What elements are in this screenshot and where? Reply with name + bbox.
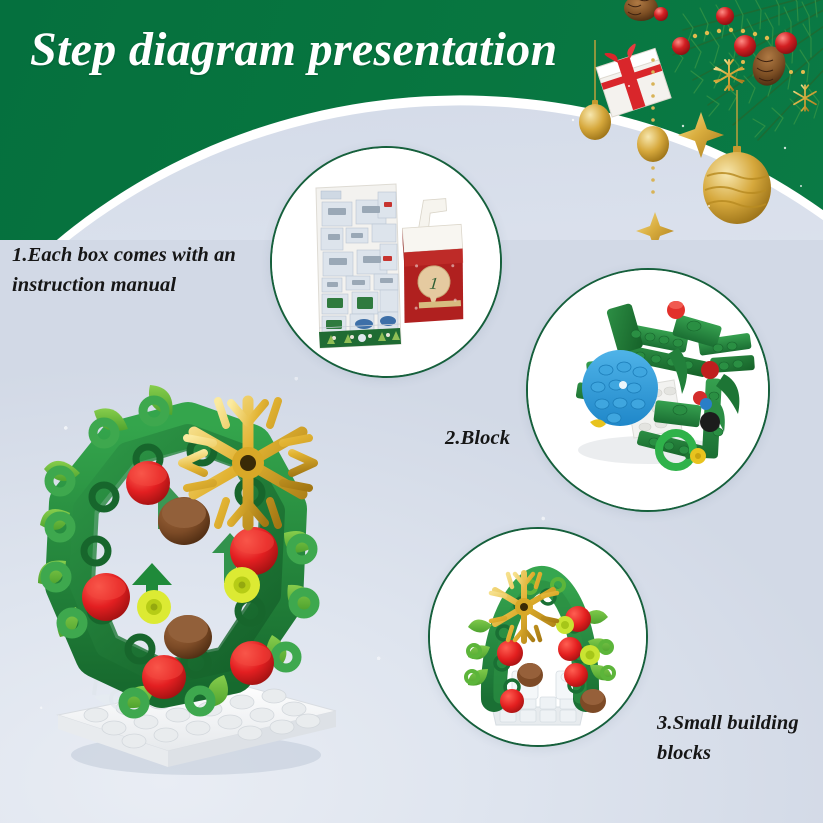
step-1-photo-circle[interactable]: 1 [270, 146, 502, 378]
step-2-caption: 2.Block [445, 423, 510, 453]
step-1-caption-line1: 1.Each box comes with an [12, 240, 264, 270]
step-1-caption-line2: instruction manual [12, 270, 264, 300]
partial-wreath-photo [430, 529, 646, 745]
instruction-sheet-icon [316, 184, 401, 348]
step-3-photo-circle[interactable] [428, 527, 648, 747]
poster-canvas: Step diagram presentation [0, 0, 823, 823]
loose-bricks-photo [528, 270, 768, 510]
step-3-caption: 3.Small building blocks [657, 708, 817, 768]
christmas-wreath-model [36, 385, 346, 785]
brown-plates [158, 497, 212, 659]
wreath-ring [38, 385, 315, 714]
step-1-caption: 1.Each box comes with an instruction man… [12, 240, 264, 300]
step-3-caption-line1: 3.Small building [657, 708, 817, 738]
main-product-image [36, 385, 346, 785]
blue-round-plate-piece [582, 350, 658, 426]
step-2-photo-circle[interactable] [526, 268, 770, 512]
page-title: Step diagram presentation [30, 22, 558, 77]
step-3-caption-line2: blocks [657, 738, 817, 768]
instruction-manual-photo: 1 [272, 148, 500, 376]
